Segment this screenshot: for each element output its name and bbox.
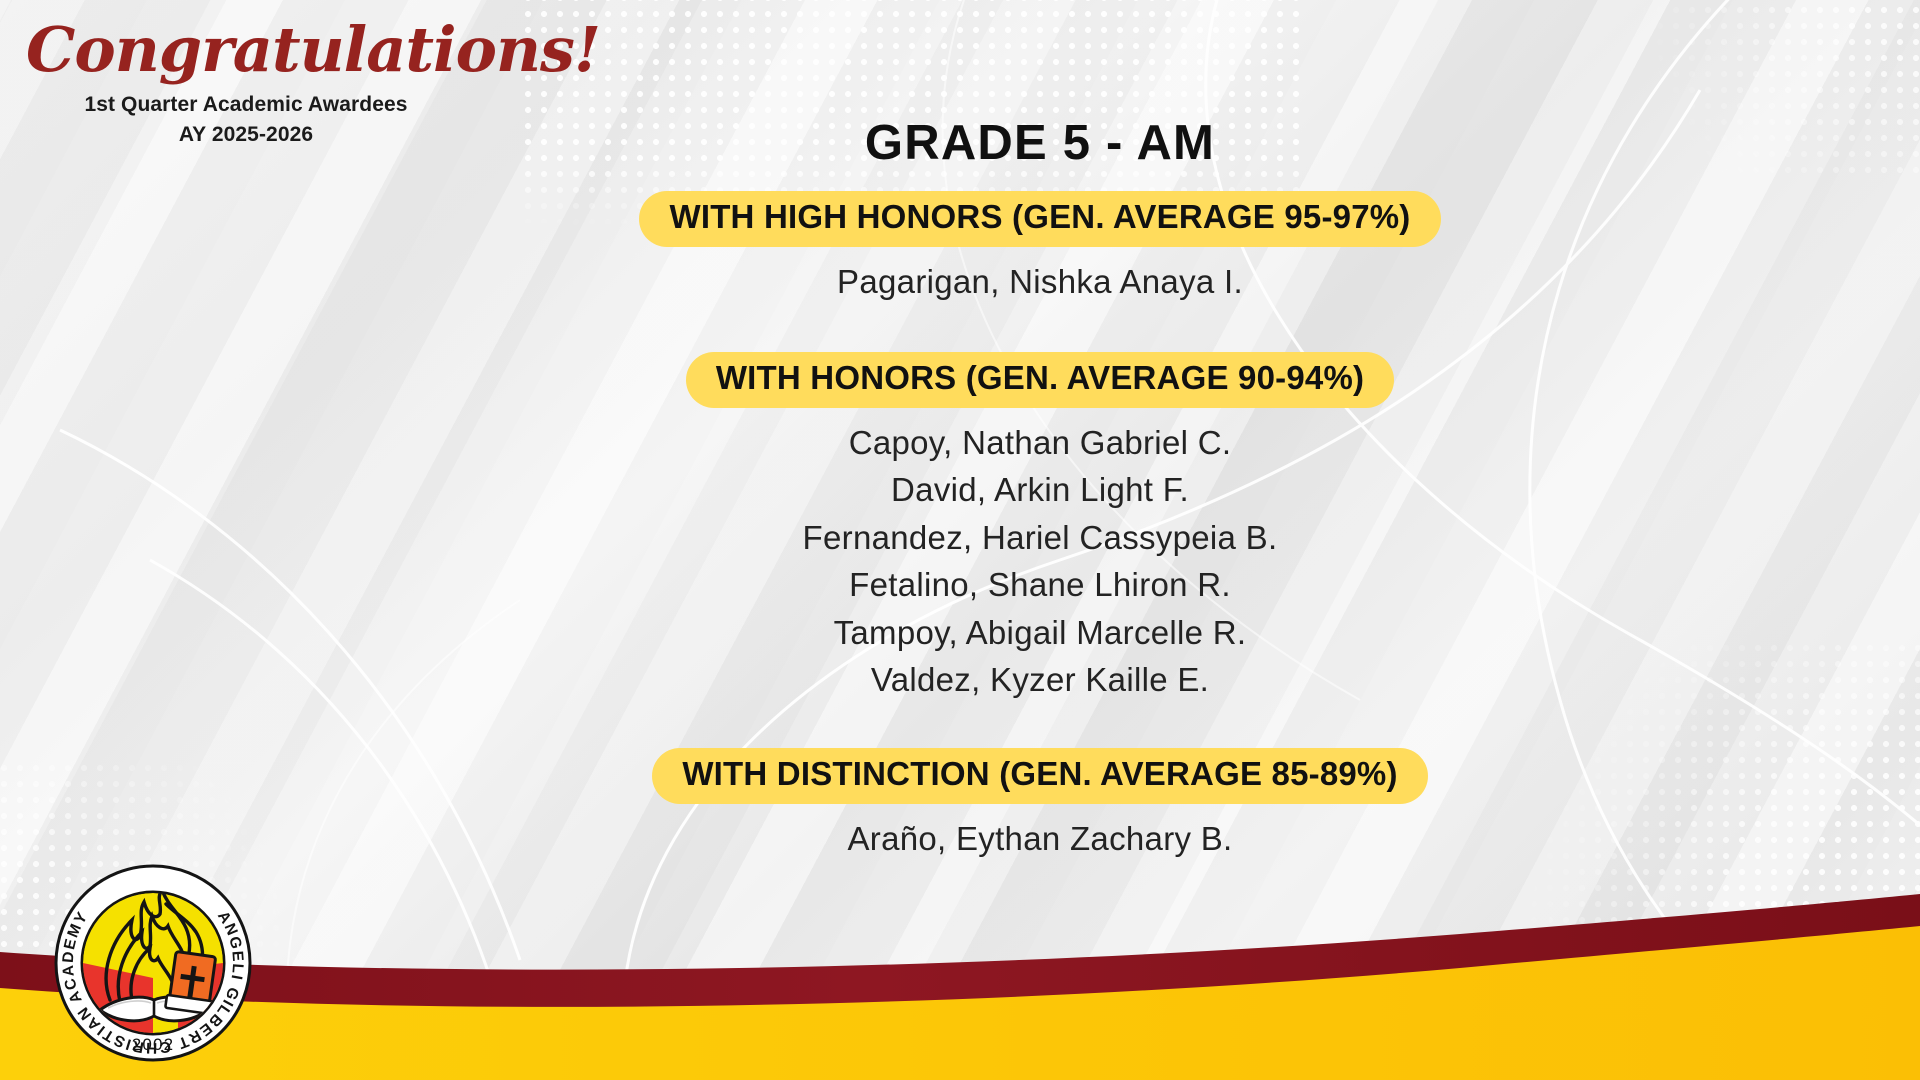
subtitle-block: 1st Quarter Academic Awardees AY 2025-20…: [26, 90, 466, 150]
bottom-wave-decoration: [0, 870, 1920, 1080]
list-item: Capoy, Nathan Gabriel C.: [410, 419, 1670, 467]
congratulations-heading: Congratulations!: [26, 18, 496, 82]
awardee-list-distinction: Araño, Eythan Zachary B.: [410, 815, 1670, 863]
page-title: GRADE 5 - AM: [410, 118, 1670, 169]
award-category-badge-distinction: WITH DISTINCTION (GEN. AVERAGE 85-89%): [652, 748, 1427, 804]
list-item: Fernandez, Hariel Cassypeia B.: [410, 514, 1670, 562]
award-group-honors: WITH HONORS (GEN. AVERAGE 90-94%) Capoy,…: [410, 352, 1670, 704]
seal-founding-year: 2002: [132, 1035, 175, 1054]
award-category-badge-high-honors: WITH HIGH HONORS (GEN. AVERAGE 95-97%): [639, 191, 1440, 247]
poster-canvas: Congratulations! 1st Quarter Academic Aw…: [0, 0, 1920, 1080]
list-item: Valdez, Kyzer Kaille E.: [410, 656, 1670, 704]
award-category-badge-honors: WITH HONORS (GEN. AVERAGE 90-94%): [686, 352, 1394, 408]
subtitle-line-1: 1st Quarter Academic Awardees: [26, 90, 466, 120]
awardees-panel: GRADE 5 - AM WITH HIGH HONORS (GEN. AVER…: [410, 118, 1670, 862]
list-item: Tampoy, Abigail Marcelle R.: [410, 609, 1670, 657]
list-item: Araño, Eythan Zachary B.: [410, 815, 1670, 863]
list-item: David, Arkin Light F.: [410, 466, 1670, 514]
subtitle-line-2: AY 2025-2026: [26, 120, 466, 150]
award-group-high-honors: WITH HIGH HONORS (GEN. AVERAGE 95-97%) P…: [410, 191, 1670, 305]
list-item: Pagarigan, Nishka Anaya I.: [410, 258, 1670, 306]
awardee-list-honors: Capoy, Nathan Gabriel C. David, Arkin Li…: [410, 419, 1670, 704]
awardee-list-high-honors: Pagarigan, Nishka Anaya I.: [410, 258, 1670, 306]
school-logo-seal: ANGELI GILBERT CHRISTIAN ACADEMY 2002: [48, 858, 258, 1068]
list-item: Fetalino, Shane Lhiron R.: [410, 561, 1670, 609]
award-group-distinction: WITH DISTINCTION (GEN. AVERAGE 85-89%) A…: [410, 748, 1670, 862]
